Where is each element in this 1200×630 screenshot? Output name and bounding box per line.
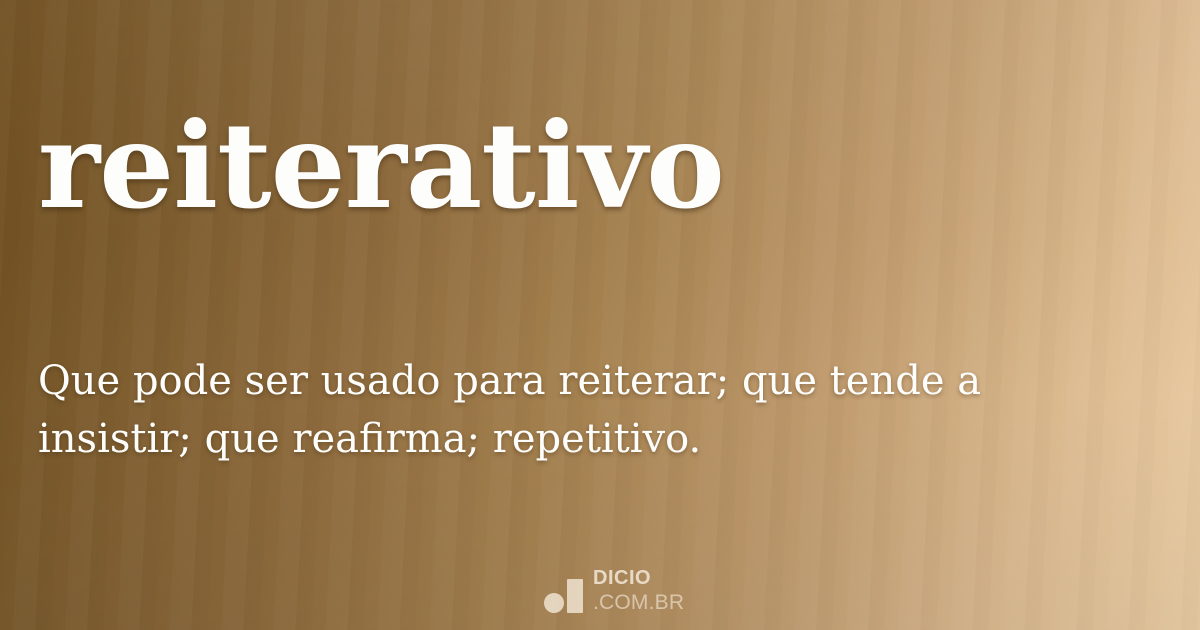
card-content: reiterativo Que pode ser usado para reit… xyxy=(0,0,1200,630)
logo-domain-suffix: .COM.BR xyxy=(593,592,684,613)
circle-dot-icon xyxy=(544,593,564,613)
logo-wordmark: DICIO .COM.BR xyxy=(593,568,684,614)
logo-mark-icon xyxy=(543,576,583,614)
vertical-bar-icon xyxy=(567,579,583,613)
definition-card: reiterativo Que pode ser usado para reit… xyxy=(0,0,1200,630)
dicio-logo[interactable]: DICIO .COM.BR xyxy=(543,568,684,614)
headword-title: reiterativo xyxy=(38,107,724,225)
definition-text: Que pode ser usado para reiterar; que te… xyxy=(38,352,1113,468)
logo-brand-name: DICIO xyxy=(593,568,684,588)
